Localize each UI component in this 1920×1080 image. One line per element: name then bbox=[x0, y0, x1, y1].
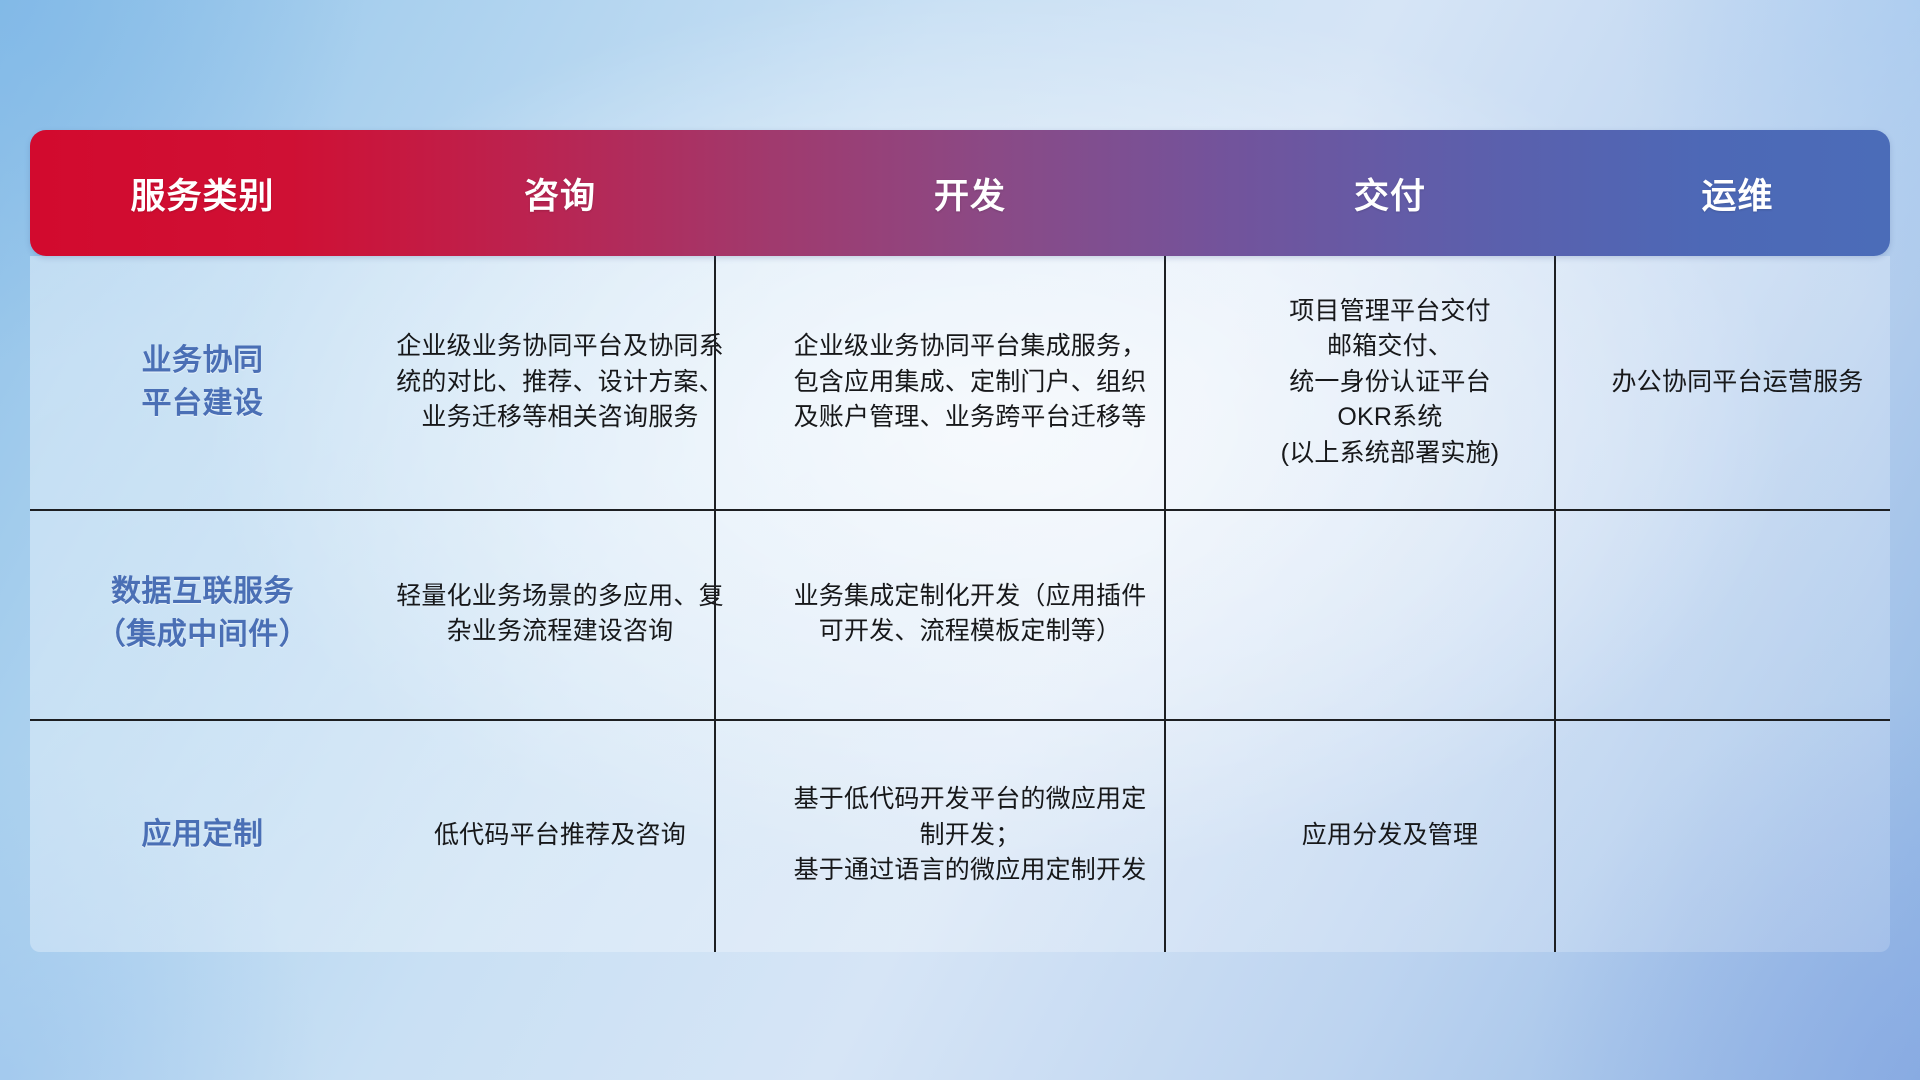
cell-operations bbox=[1585, 509, 1890, 719]
cell-consulting: 低代码平台推荐及咨询 bbox=[375, 719, 745, 952]
cell-development: 业务集成定制化开发（应用插件 可开发、流程模板定制等） bbox=[745, 509, 1195, 719]
cell-delivery bbox=[1195, 509, 1585, 719]
column-header-category: 服务类别 bbox=[30, 168, 375, 219]
table-body: 业务协同 平台建设 企业级业务协同平台及协同系 统的对比、推荐、设计方案、 业务… bbox=[30, 256, 1890, 952]
cell-text: 基于低代码开发平台的微应用定 制开发； 基于通过语言的微应用定制开发 bbox=[794, 782, 1147, 889]
table-row: 数据互联服务 （集成中间件） 轻量化业务场景的多应用、复 杂业务流程建设咨询 业… bbox=[30, 509, 1890, 719]
cell-text: 企业级业务协同平台集成服务， 包含应用集成、定制门户、组织 及账户管理、业务跨平… bbox=[794, 329, 1147, 436]
cell-text: 企业级业务协同平台及协同系 统的对比、推荐、设计方案、 业务迁移等相关咨询服务 bbox=[396, 329, 724, 436]
cell-category: 数据互联服务 （集成中间件） bbox=[30, 509, 375, 719]
row-divider bbox=[30, 509, 1890, 511]
cell-operations bbox=[1585, 719, 1890, 952]
column-header-delivery: 交付 bbox=[1195, 168, 1585, 219]
row-category-label: 数据互联服务 （集成中间件） bbox=[96, 571, 310, 656]
cell-consulting: 轻量化业务场景的多应用、复 杂业务流程建设咨询 bbox=[375, 509, 745, 719]
table-header-row: 服务类别 咨询 开发 交付 运维 bbox=[30, 130, 1890, 256]
slide-canvas: 服务类别 咨询 开发 交付 运维 业务协同 平台建设 企业级业务协同平台及协同系… bbox=[0, 0, 1920, 1080]
cell-category: 应用定制 bbox=[30, 719, 375, 952]
cell-development: 企业级业务协同平台集成服务， 包含应用集成、定制门户、组织 及账户管理、业务跨平… bbox=[745, 256, 1195, 509]
column-divider bbox=[714, 256, 716, 952]
cell-text: 办公协同平台运营服务 bbox=[1611, 365, 1863, 401]
cell-operations: 办公协同平台运营服务 bbox=[1585, 256, 1890, 509]
column-header-development: 开发 bbox=[745, 168, 1195, 219]
cell-text: 应用分发及管理 bbox=[1302, 818, 1478, 854]
cell-text: 轻量化业务场景的多应用、复 杂业务流程建设咨询 bbox=[396, 579, 724, 650]
cell-development: 基于低代码开发平台的微应用定 制开发； 基于通过语言的微应用定制开发 bbox=[745, 719, 1195, 952]
cell-text: 项目管理平台交付 邮箱交付、 统一身份认证平台 OKR系统 (以上系统部署实施) bbox=[1281, 294, 1500, 472]
cell-consulting: 企业级业务协同平台及协同系 统的对比、推荐、设计方案、 业务迁移等相关咨询服务 bbox=[375, 256, 745, 509]
row-category-label: 业务协同 平台建设 bbox=[142, 340, 264, 425]
cell-delivery: 应用分发及管理 bbox=[1195, 719, 1585, 952]
column-divider bbox=[1554, 256, 1556, 952]
column-header-consulting: 咨询 bbox=[375, 168, 745, 219]
cell-text: 业务集成定制化开发（应用插件 可开发、流程模板定制等） bbox=[794, 579, 1147, 650]
cell-category: 业务协同 平台建设 bbox=[30, 256, 375, 509]
cell-text: 低代码平台推荐及咨询 bbox=[434, 818, 686, 854]
cell-delivery: 项目管理平台交付 邮箱交付、 统一身份认证平台 OKR系统 (以上系统部署实施) bbox=[1195, 256, 1585, 509]
row-category-label: 应用定制 bbox=[142, 814, 264, 857]
column-divider bbox=[1164, 256, 1166, 952]
table-row: 业务协同 平台建设 企业级业务协同平台及协同系 统的对比、推荐、设计方案、 业务… bbox=[30, 256, 1890, 509]
column-header-operations: 运维 bbox=[1585, 168, 1890, 219]
row-divider bbox=[30, 719, 1890, 721]
table-row: 应用定制 低代码平台推荐及咨询 基于低代码开发平台的微应用定 制开发； 基于通过… bbox=[30, 719, 1890, 952]
